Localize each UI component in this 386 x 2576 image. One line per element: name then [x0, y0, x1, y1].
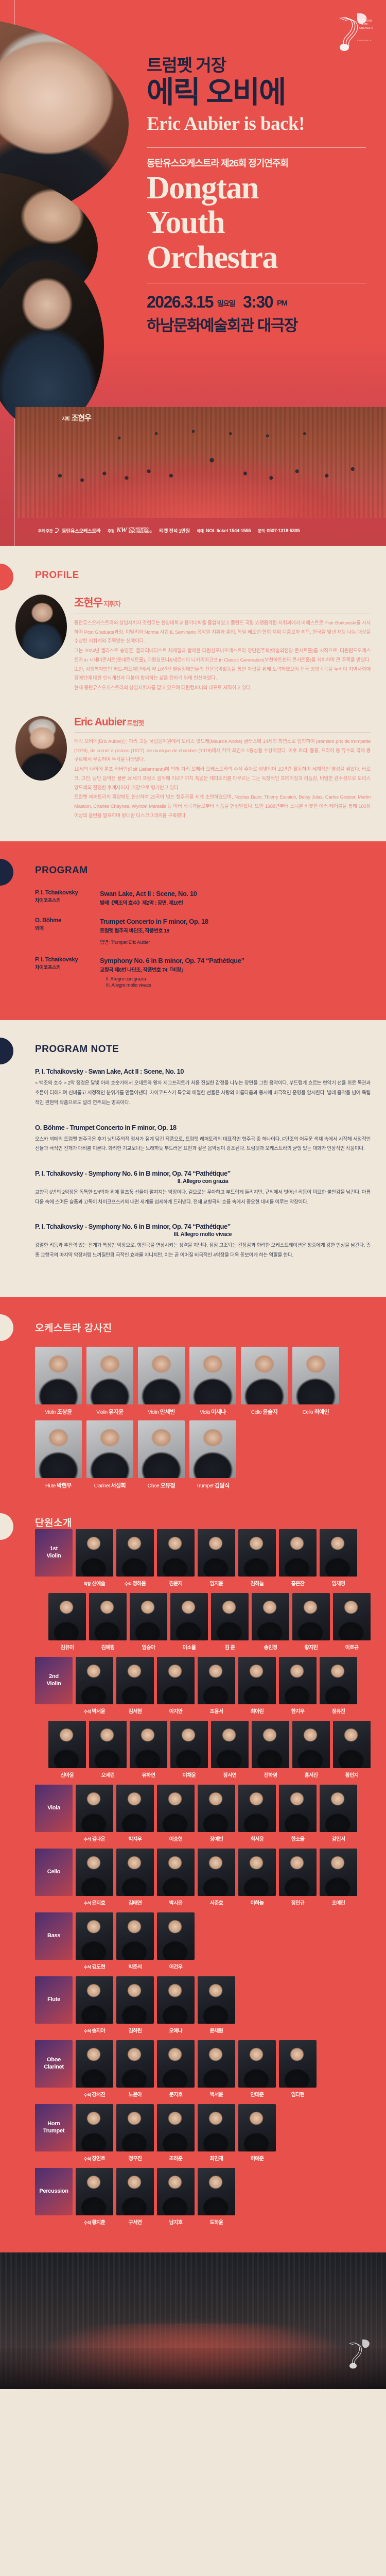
member-name: 정우진 [129, 2156, 142, 2162]
members-row: 김유이김예림임승아이소율김 준송민정황지민이호규 [35, 1593, 371, 1651]
instructor-caption: Oboe 오유정 [138, 1481, 185, 1489]
member-cell: 김 준 [211, 1593, 249, 1651]
member-photo [333, 1721, 371, 1768]
members-row: Viola수석 김나은박지우이승현정예빈최서윤한소율강민서 [35, 1785, 371, 1842]
member-caption: 수석 장민호 [76, 2154, 113, 2162]
instructors-grid: Violin 조상윤Violin 유지윤Violin 안세빈Viola 이새나C… [35, 1347, 371, 1489]
member-caption: 김하린 [116, 2026, 154, 2034]
member-rank: 수석 [84, 2093, 91, 2097]
member-cell: 조윤서 [198, 1657, 235, 1715]
program-composer-kr: 뵈메 [35, 924, 93, 931]
hero-time: 3:30 [243, 293, 273, 312]
member-caption: 정민규 [279, 1899, 317, 1906]
host-label: 주최·주관 [38, 528, 52, 534]
member-name: 강서진 [92, 2092, 105, 2098]
hero-weekday: 일요일 [217, 298, 235, 309]
program-note-section: PROGRAM NOTE P. I. Tchaikovsky - Swan La… [0, 1020, 386, 1296]
member-caption: 박시윤 [157, 1899, 195, 1906]
member-caption: 김윤지 [157, 1579, 195, 1587]
members-row-spacer [35, 1721, 45, 1778]
member-photo [76, 1785, 113, 1832]
member-photo [157, 1912, 195, 1960]
member-cell: 김윤지 [157, 1529, 195, 1587]
members-section-badge: Bass [35, 1912, 73, 1970]
member-photo [76, 1976, 113, 2024]
member-caption: 수석 강서진 [76, 2090, 113, 2098]
member-name: 남지호 [169, 2220, 183, 2226]
member-photo [130, 1593, 167, 1640]
instructor-cell: Trumpet 김달식 [189, 1420, 236, 1489]
member-name: 이채윤 [183, 1773, 196, 1778]
member-cell: 황민지 [333, 1721, 371, 1778]
member-caption: 수석 윤지호 [76, 1899, 113, 1906]
member-caption: 조예린 [320, 1899, 357, 1906]
member-name: 김도현 [92, 1964, 105, 1970]
members-row: Percussion수석 황지훈구서연남지호도하윤 [35, 2168, 371, 2226]
member-caption: 전하영 [252, 1771, 289, 1778]
member-name: 안태준 [251, 2092, 264, 2098]
program-item: P. I. Tchaikovsky 차이코프스키 Swan Lake, Act … [35, 890, 371, 906]
member-photo [170, 1593, 208, 1640]
instructor-cell: Violin 안세빈 [138, 1347, 185, 1416]
member-cell: 장서연 [211, 1721, 249, 1778]
member-cell: 구서연 [116, 2168, 154, 2226]
instructor-photo [189, 1347, 236, 1404]
member-caption: 수석 송지아 [76, 2026, 113, 2034]
member-name: 정예빈 [210, 1837, 223, 1842]
program-note-title: O. Böhme - Trumpet Concerto in F minor, … [35, 1124, 371, 1131]
program-note-block: O. Böhme - Trumpet Concerto in F minor, … [35, 1124, 371, 1154]
instructor-part: Violin [45, 1410, 56, 1415]
profile-heading: PROFILE [35, 570, 371, 581]
member-name: 윤지호 [92, 1901, 105, 1906]
member-cell: 수석 김도현 [76, 1912, 113, 1970]
member-caption: 수석 김도현 [76, 1962, 113, 1970]
member-cell: 임승아 [130, 1593, 167, 1651]
member-cell: 이건우 [157, 1912, 195, 1970]
member-caption: 이승현 [157, 1835, 195, 1842]
instructor-part: Oboe [148, 1483, 159, 1489]
member-caption: 임다현 [279, 2090, 317, 2098]
members-section-badge: Flute [35, 1976, 73, 2034]
member-photo [116, 2168, 154, 2215]
member-cell: 조하준 [157, 2104, 195, 2162]
program-note-heading: PROGRAM NOTE [35, 1044, 371, 1055]
member-cell: 송민정 [252, 1593, 289, 1651]
instructor-photo [138, 1420, 185, 1478]
member-name: 최민재 [210, 2156, 223, 2162]
member-cell: 박지우 [116, 1785, 154, 1842]
member-photo [211, 1721, 249, 1768]
member-name: 김유이 [61, 1645, 74, 1651]
member-photo [116, 2040, 154, 2088]
instructor-part: Cello [303, 1410, 313, 1415]
member-cell: 홍서진 [292, 1721, 330, 1778]
member-name: 박지우 [129, 1837, 142, 1842]
instructor-name: 김달식 [215, 1483, 230, 1489]
instructor-caption: Clarinet 서성희 [86, 1481, 133, 1489]
instructor-photo [35, 1347, 82, 1404]
member-name: 정하음 [132, 1581, 146, 1587]
member-name: 도하윤 [210, 2220, 223, 2226]
member-caption: 수석 정하음 [116, 1579, 154, 1587]
member-photo [198, 2168, 235, 2215]
program-item: O. Böhme 뵈메 Trumpet Concerto in F minor,… [35, 918, 371, 945]
soloist-name-block: Eric Aubier트럼펫 [74, 716, 371, 728]
member-cell: 노윤아 [116, 2040, 154, 2098]
instructor-photo [86, 1420, 133, 1478]
soloist-profile-row: Eric Aubier트럼펫 에릭 오비에(Eric Aubier)는 파리 고… [35, 716, 371, 821]
footer-hall-photo [0, 2252, 386, 2389]
member-name: 이하늘 [251, 1901, 264, 1906]
sponsor-bar: 주최·주관 동탄유스오케스트라 후원 KW KYUNGWOO ENGINEERI… [15, 520, 386, 541]
program-note-body: 강렬한 리듬과 추진력 있는 전개가 특징인 악장으로, 행진곡을 연상시키는 … [35, 1241, 371, 1260]
member-name: 박시윤 [169, 1901, 183, 1906]
support-subname: ENGINEERING [129, 531, 152, 534]
member-name: 임채영 [332, 1581, 345, 1587]
poster-page: DONGTAN YOUTH ORCHESTRA SINFONIA 트럼펫 거장 … [0, 0, 386, 2389]
member-name: 김나은 [92, 1837, 105, 1842]
members-section-badge: 1stViolin [35, 1529, 73, 1587]
instructor-caption: Viola 이새나 [189, 1408, 236, 1416]
member-caption: 이채윤 [170, 1771, 208, 1778]
member-name: 김서현 [129, 1709, 142, 1715]
hero-title-line-1: Dongtan [147, 173, 373, 204]
program-note-body: < 백조의 호수 > 2막 정경은 달빛 아래 호숫가에서 오데트와 왕자 지그… [35, 1079, 371, 1108]
instructor-part: Clarinet [94, 1483, 110, 1489]
support-label: 후원 [108, 528, 114, 534]
members-row: OboeClarinet수석 강서진노윤아문지호백서윤안태준임다현 [35, 2040, 371, 2098]
member-caption: 임지윤 [198, 1579, 235, 1587]
member-caption: 조하준 [157, 2154, 195, 2162]
member-caption: 황지민 [292, 1643, 330, 1651]
members-section-badge: 2ndViolin [35, 1657, 73, 1715]
member-name: 한지우 [291, 1709, 305, 1715]
member-cell: 수석 정하음 [116, 1529, 154, 1587]
conductor-bio-p3: 현재 동탄유스오케스트라의 상임지휘자를 맡고 있으며 더원컴퍼니의 대표로 재… [74, 684, 371, 693]
instructor-cell: Viola 이새나 [189, 1347, 236, 1416]
program-composer-en: P. I. Tchaikovsky [35, 957, 93, 963]
instructor-photo [292, 1347, 339, 1404]
member-caption: 문지호 [157, 2090, 195, 2098]
member-photo [157, 2040, 195, 2088]
members-section: 단원소개 1stViolin악장 신예솔수석 정하음김윤지임지윤김하늘홍은찬임채… [0, 1510, 386, 2252]
member-cell: 최민재 [198, 2104, 235, 2162]
hero-section: DONGTAN YOUTH ORCHESTRA SINFONIA 트럼펫 거장 … [0, 0, 386, 546]
member-cell: 김예림 [89, 1593, 127, 1651]
member-photo [252, 1721, 289, 1768]
sales-group: 예매 NOL ticket 1544-1555 [197, 528, 251, 534]
program-note-accent-halfcircle [0, 1038, 13, 1064]
member-name: 문지호 [169, 2092, 183, 2098]
program-work-en: Swan Lake, Act II : Scene, No. 10 [100, 890, 197, 897]
hero-artist-name-en: Eric Aubier is back! [147, 113, 373, 135]
member-caption: 최민재 [198, 2154, 235, 2162]
member-rank: 수석 [84, 2157, 91, 2161]
ticket-group: 티켓 전석 1만원 [159, 527, 189, 534]
instructor-cell: Violin 조상윤 [35, 1347, 82, 1416]
soloist-bio: 에릭 오비에(Eric Aubier)는 파리 고등 국립음악원에서 모리스 앙… [74, 737, 371, 821]
conductor-caption: 지휘 조현우 [62, 412, 91, 423]
members-row: Bass수석 김도현박준서이건우 [35, 1912, 371, 1970]
instructor-name: 최예인 [314, 1409, 329, 1415]
member-name: 유하연 [142, 1773, 155, 1778]
member-photo [116, 1976, 154, 2024]
member-cell: 정우진 [116, 2104, 154, 2162]
member-rank: 수석 [125, 1582, 132, 1586]
member-cell: 허예준 [238, 2104, 276, 2162]
member-cell: 윤채원 [198, 1976, 235, 2034]
hero-date-time: 2026.3.15 일요일 3:30 PM [147, 293, 373, 312]
program-note-block: P. I. Tchaikovsky - Swan Lake, Act II : … [35, 1067, 371, 1108]
hero-subtitle: 동탄유스오케스트라 제26회 정기연주회 [147, 156, 373, 170]
conductor-bio-p2: 그는 2024년 첼리스트 송영훈, 클라리네티스트 채재일과 함께한 더원심포… [74, 647, 371, 683]
member-caption: 한소율 [279, 1835, 317, 1842]
instructor-cell: Flute 박현우 [35, 1420, 82, 1489]
program-soloist-credit: 협연: Trumpet Eric Aubier [100, 938, 208, 945]
conductor-name: 조현우 [74, 597, 102, 609]
instructor-cell: Clarinet 서성희 [86, 1420, 133, 1489]
member-name: 김 준 [225, 1645, 235, 1651]
member-cell: 이승현 [157, 1785, 195, 1842]
program-work-kr: 트럼펫 협주곡 바단조, 작품번호 18 [100, 926, 208, 934]
member-caption: 구서연 [116, 2218, 154, 2226]
member-cell: 오예나 [157, 1976, 195, 2034]
member-caption: 도하윤 [198, 2218, 235, 2226]
instructor-photo [35, 1420, 82, 1478]
instructor-name: 오유정 [160, 1483, 175, 1489]
member-caption: 이하늘 [238, 1899, 276, 1906]
member-photo [238, 2104, 276, 2151]
member-name: 오예나 [169, 2028, 183, 2034]
member-cell: 김하린 [116, 1976, 154, 2034]
member-photo [279, 1785, 317, 1832]
program-composer-kr: 차이코프스키 [35, 963, 93, 971]
member-caption: 안태준 [238, 2090, 276, 2098]
member-name: 백서윤 [210, 2092, 223, 2098]
member-photo [170, 1721, 208, 1768]
member-photo [116, 1912, 154, 1960]
hero-title-line-3: Orchestra [147, 242, 373, 274]
hero-content: 트럼펫 거장 에릭 오비에 Eric Aubier is back! 동탄유스오… [147, 0, 373, 335]
members-grid: 1stViolin악장 신예솔수석 정하음김윤지임지윤김하늘홍은찬임채영김유이김… [35, 1529, 371, 2226]
program-composer-en: O. Böhme [35, 918, 93, 924]
instructor-caption: Violin 조상윤 [35, 1408, 82, 1416]
member-caption: 수석 황지훈 [76, 2218, 113, 2226]
instructor-name: 박현우 [57, 1483, 72, 1489]
member-photo [116, 2104, 154, 2151]
member-name: 김하린 [129, 2028, 142, 2034]
program-note-title: P. I. Tchaikovsky - Symphony No. 6 in B … [35, 1223, 371, 1230]
inquiry-number: 0507-1318-5305 [267, 528, 300, 534]
instructor-part: Violin [96, 1410, 107, 1415]
program-movement: III. Allegro molto vivace [100, 982, 244, 988]
member-name: 이건우 [169, 1964, 183, 1970]
member-photo [292, 1721, 330, 1768]
member-caption: 송민정 [252, 1643, 289, 1651]
member-cell: 수석 박서윤 [76, 1657, 113, 1715]
member-name: 이지안 [169, 1709, 183, 1715]
program-list: P. I. Tchaikovsky 차이코프스키 Swan Lake, Act … [35, 890, 371, 988]
ticket-price: 티켓 전석 1만원 [159, 527, 189, 534]
program-note-body: 교향곡 6번의 2악장은 독특한 5/4박자 위에 왈츠풍 선율이 펼쳐지는 악… [35, 1188, 371, 1207]
member-name: 임다현 [291, 2092, 305, 2098]
member-name: 황민지 [345, 1773, 359, 1778]
member-photo [157, 1976, 195, 2024]
member-caption: 유하연 [130, 1771, 167, 1778]
member-name: 황지민 [305, 1645, 318, 1651]
hero-ampm: PM [277, 299, 287, 308]
member-caption: 홍서진 [292, 1771, 330, 1778]
member-cell: 남지호 [157, 2168, 195, 2226]
members-section-badge: Percussion [35, 2168, 73, 2226]
member-cell: 정예빈 [198, 1785, 235, 1842]
instructor-name: 안세빈 [160, 1409, 175, 1415]
member-photo [238, 1529, 276, 1577]
member-cell: 황지민 [292, 1593, 330, 1651]
program-note-subtitle: II. Allegro con grazia [35, 1178, 371, 1184]
members-row: 1stViolin악장 신예솔수석 정하음김윤지임지윤김하늘홍은찬임채영 [35, 1529, 371, 1587]
member-caption: 오세린 [89, 1771, 127, 1778]
instructor-cell: Cello 윤슬지 [241, 1347, 288, 1416]
members-row: 2ndViolin수석 박서윤김서현이지안조윤서최아린한지우정유진 [35, 1657, 371, 1715]
member-photo [279, 1849, 317, 1896]
member-cell: 박시윤 [157, 1849, 195, 1906]
member-caption: 임채영 [320, 1579, 357, 1587]
conductor-avatar [15, 595, 67, 659]
member-caption: 김유이 [48, 1643, 86, 1651]
member-caption: 김 준 [211, 1643, 249, 1651]
member-photo [211, 1593, 249, 1640]
member-caption: 윤채원 [198, 2026, 235, 2034]
member-cell: 오세린 [89, 1721, 127, 1778]
member-caption: 황민지 [333, 1771, 371, 1778]
member-cell: 이지안 [157, 1657, 195, 1715]
member-name: 송민정 [264, 1645, 277, 1651]
member-cell: 한소율 [279, 1785, 317, 1842]
member-rank: 수석 [84, 1837, 91, 1842]
member-caption: 임승아 [130, 1643, 167, 1651]
hero-date-value: 2026.3.15 [147, 293, 213, 312]
member-photo [48, 1721, 86, 1768]
program-note-block: P. I. Tchaikovsky - Symphony No. 6 in B … [35, 1223, 371, 1260]
member-cell: 전하영 [252, 1721, 289, 1778]
hero-divider-2 [147, 283, 366, 283]
member-name: 송지아 [92, 2028, 105, 2034]
member-photo [157, 2104, 195, 2151]
program-work-en: Trumpet Concerto in F minor, Op. 18 [100, 918, 208, 925]
instructors-accent-halfcircle [0, 1314, 13, 1341]
member-cell: 임다현 [279, 2040, 317, 2098]
member-name: 정민규 [291, 1901, 305, 1906]
member-photo [89, 1721, 127, 1768]
member-photo [89, 1593, 127, 1640]
program-work-en: Symphony No. 6 in B minor, Op. 74 “Pathé… [100, 957, 244, 964]
member-cell: 임지윤 [198, 1529, 235, 1587]
member-caption: 이소율 [170, 1643, 208, 1651]
member-caption: 서준호 [198, 1899, 235, 1906]
instructor-name: 윤슬지 [262, 1409, 277, 1415]
instructor-name: 유지윤 [109, 1409, 124, 1415]
member-photo [76, 1529, 113, 1577]
member-caption: 정예빈 [198, 1835, 235, 1842]
member-name: 노윤아 [129, 2092, 142, 2098]
program-section: PROGRAM P. I. Tchaikovsky 차이코프스키 Swan La… [0, 841, 386, 1020]
member-photo [198, 1785, 235, 1832]
member-name: 전하영 [264, 1773, 277, 1778]
program-accent-halfcircle [0, 859, 13, 886]
member-name: 최아린 [251, 1709, 264, 1715]
member-caption: 수석 박서윤 [76, 1707, 113, 1715]
member-caption: 백서윤 [198, 2090, 235, 2098]
member-cell: 이하늘 [238, 1849, 276, 1906]
program-composer-en: P. I. Tchaikovsky [35, 890, 93, 896]
conductor-caption-label: 지휘 [62, 415, 69, 422]
conductor-bio: 동탄유스오케스트라의 상임지휘자 조현우는 한양대학교 음악대학을 졸업하였고 … [74, 619, 371, 693]
member-caption: 조윤서 [198, 1707, 235, 1715]
program-note-title: P. I. Tchaikovsky - Swan Lake, Act II : … [35, 1067, 371, 1075]
member-name: 강민서 [332, 1837, 345, 1842]
soloist-divider [74, 732, 371, 733]
member-photo [198, 2040, 235, 2088]
members-accent-halfcircle [0, 1513, 13, 1540]
members-row-spacer [35, 1593, 45, 1651]
member-photo [157, 1785, 195, 1832]
member-cell: 수석 김나은 [76, 1785, 113, 1842]
member-cell: 서준호 [198, 1849, 235, 1906]
member-name: 홍은찬 [291, 1581, 305, 1587]
program-work-kr: 교향곡 제6번 나단조, 작품번호 74「비창」 [100, 965, 244, 973]
member-name: 장민호 [92, 2156, 105, 2162]
member-photo [238, 2040, 276, 2088]
hero-divider-1 [147, 147, 366, 148]
program-heading: PROGRAM [35, 865, 371, 876]
member-caption: 김예림 [89, 1643, 127, 1651]
member-cell: 악장 신예솔 [76, 1529, 113, 1587]
member-caption: 김하늘 [238, 1579, 276, 1587]
member-photo [48, 1593, 86, 1640]
program-composer-kr: 차이코프스키 [35, 896, 93, 904]
member-photo [292, 1593, 330, 1640]
member-caption: 장서연 [211, 1771, 249, 1778]
member-caption: 최서윤 [238, 1835, 276, 1842]
member-photo [238, 1849, 276, 1896]
support-group: 후원 KW KYUNGWOO ENGINEERING [108, 527, 152, 535]
member-photo [198, 1849, 235, 1896]
hero-venue: 하남문화예술회관 대극장 [147, 313, 373, 335]
member-name: 최서윤 [251, 1837, 264, 1842]
member-rank: 수석 [84, 2029, 91, 2033]
instructor-part: Cello [251, 1410, 261, 1415]
sales-label: 예매 [197, 528, 204, 534]
member-name: 허예준 [251, 2156, 264, 2162]
conductor-hero-photo [0, 260, 104, 430]
program-note-title: P. I. Tchaikovsky - Symphony No. 6 in B … [35, 1170, 371, 1177]
member-name: 조하준 [169, 2156, 183, 2162]
member-name: 신예솔 [92, 1581, 105, 1587]
member-name: 한소율 [291, 1837, 305, 1842]
instructor-part: Viola [200, 1410, 210, 1415]
member-photo [198, 1529, 235, 1577]
member-name: 윤채원 [210, 2028, 223, 2034]
member-rank: 수석 [84, 2221, 91, 2225]
member-caption: 정우진 [116, 2154, 154, 2162]
member-caption: 정유진 [320, 1707, 357, 1715]
conductor-role: 지휘자 [103, 600, 120, 608]
program-note-body: 오스카 뵈메의 트럼펫 협주곡은 후기 낭만주의적 정서가 짙게 담긴 작품으로… [35, 1135, 371, 1154]
instructor-caption: Trumpet 김달식 [189, 1481, 236, 1489]
member-rank: 수석 [84, 1965, 91, 1970]
